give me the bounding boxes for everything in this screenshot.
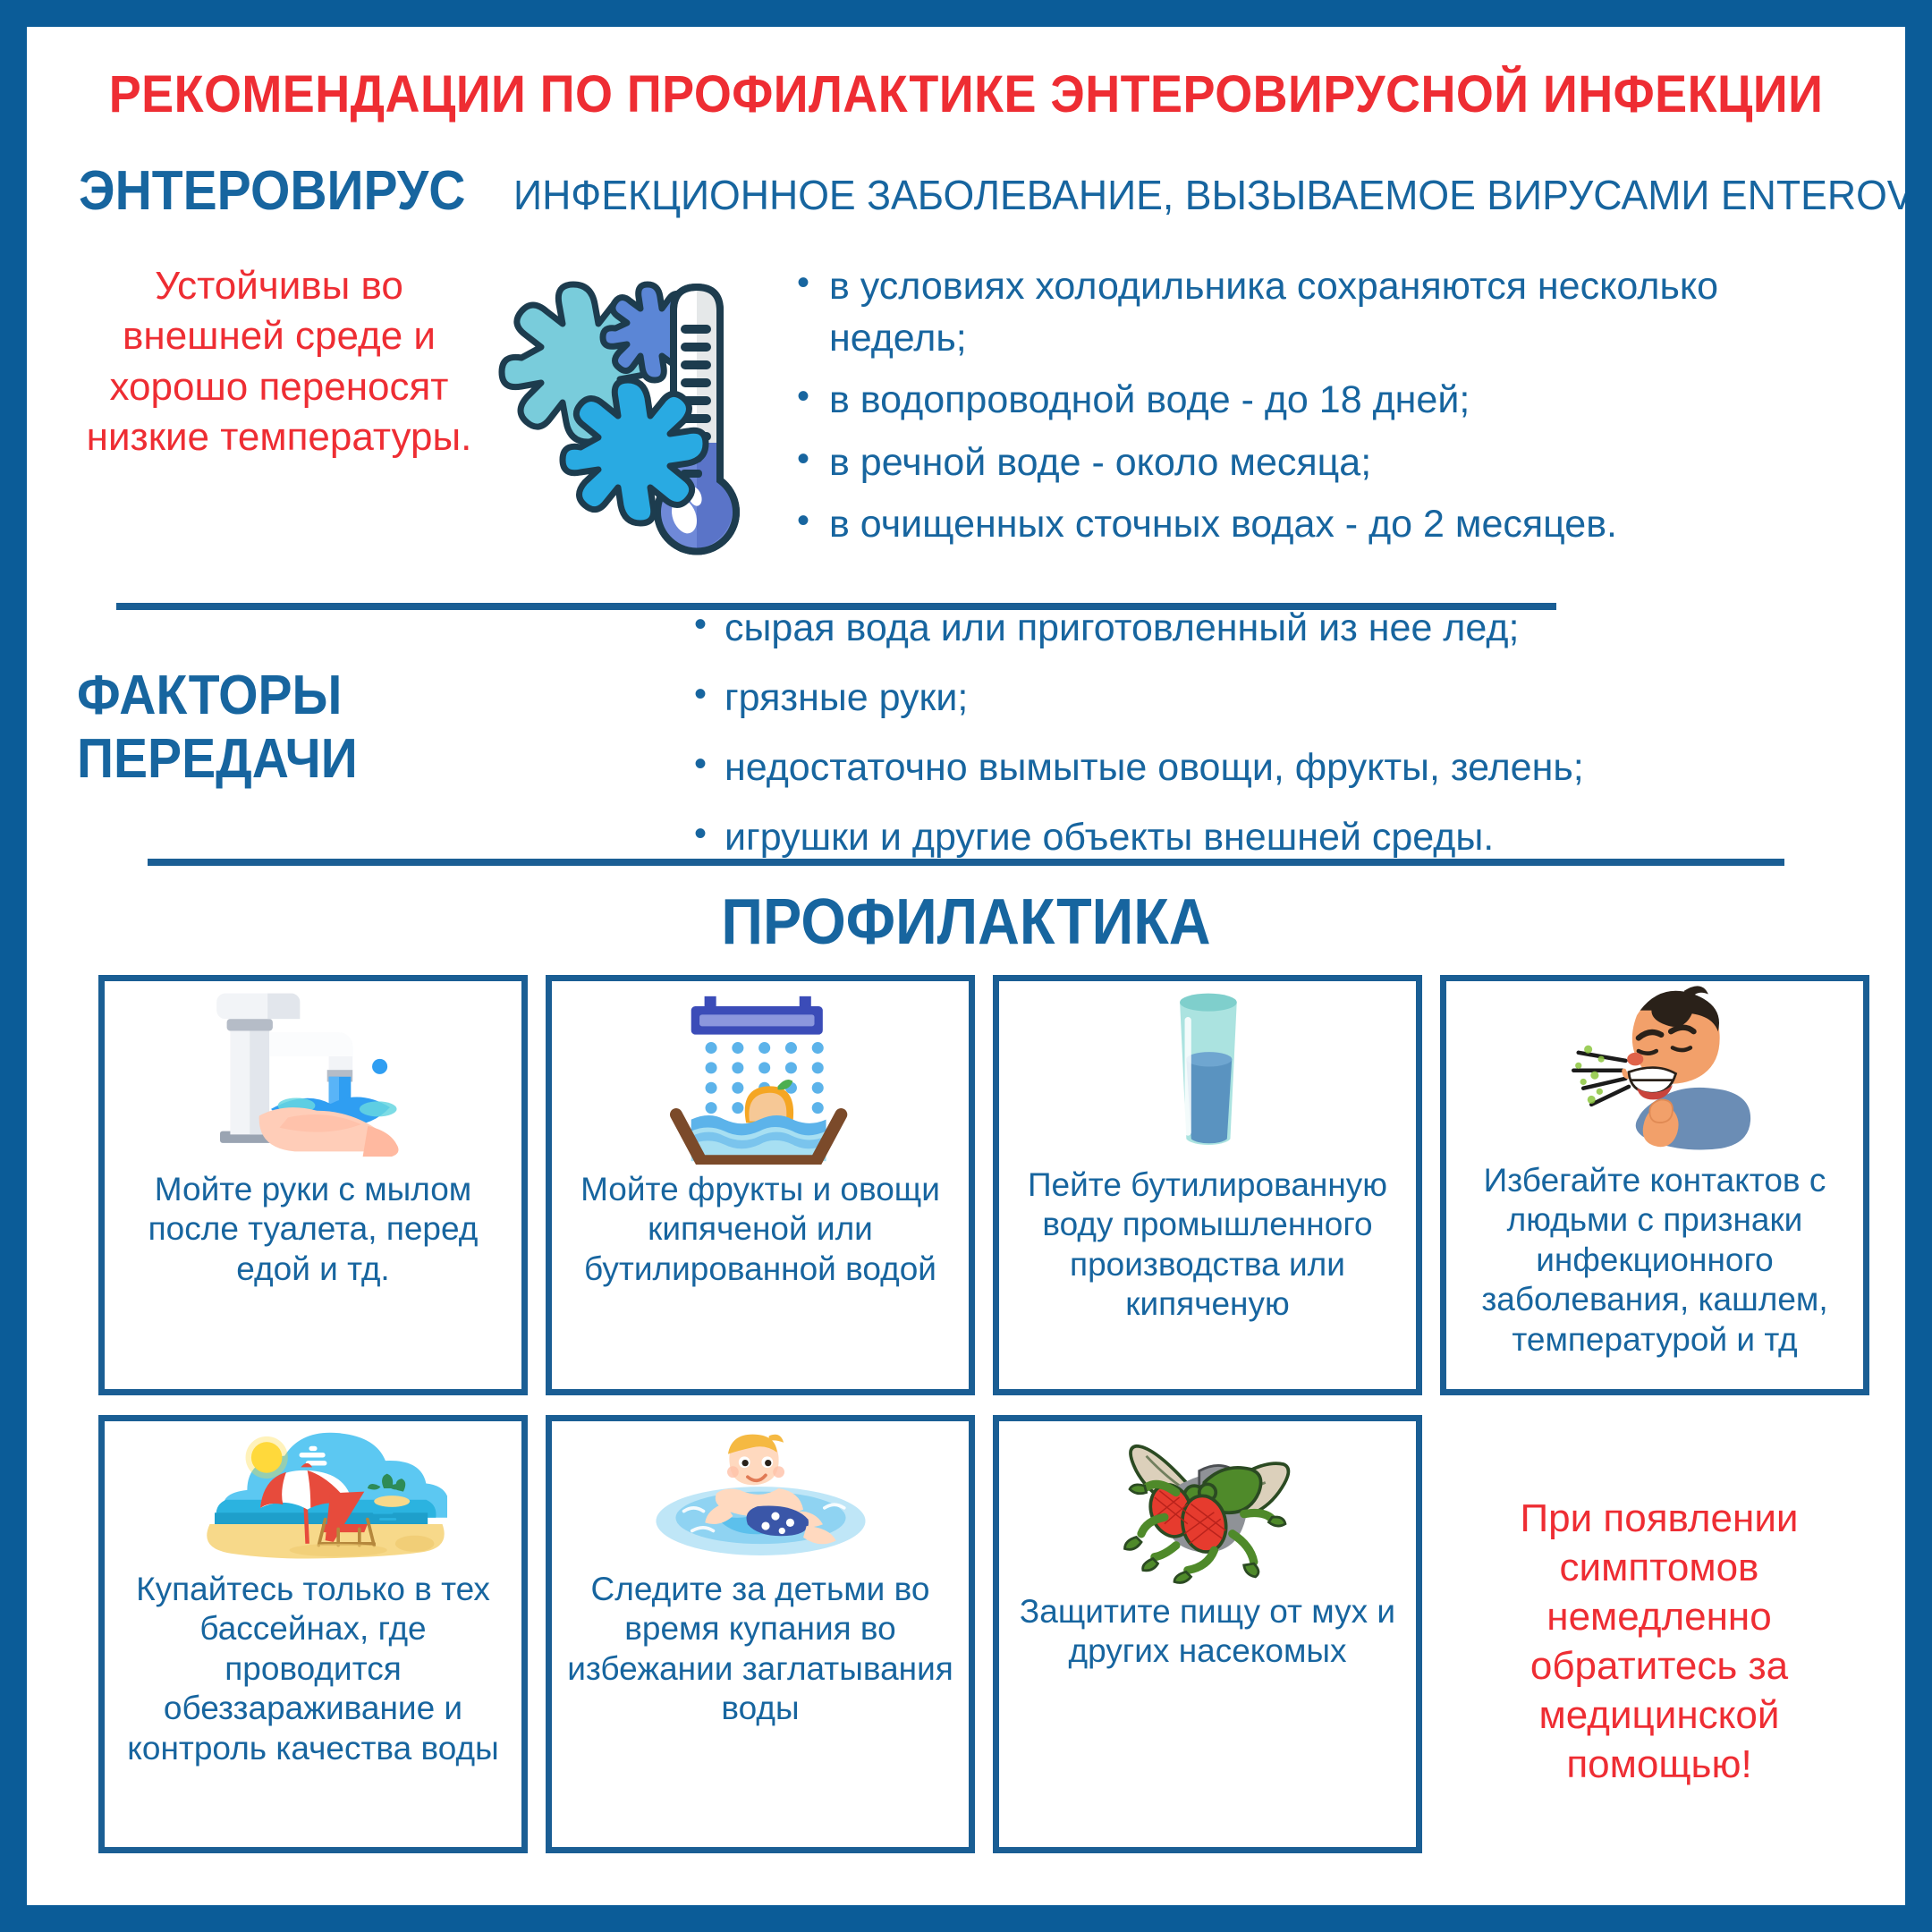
list-item: недостаточно вымытые овощи, фрукты, зеле… [689, 743, 1789, 793]
prevention-card-protect-food: Защитите пищу от мух и других насекомых [993, 1415, 1422, 1853]
handwashing-faucet-icon [105, 981, 521, 1165]
coughing-man-icon [1446, 981, 1863, 1156]
prevention-card-avoid-contact: Избегайте контактов с людьми с признаки … [1440, 975, 1869, 1395]
card-label: Пейте бутилированную воду промышленного … [999, 1160, 1416, 1325]
enterovirus-definition: ЭНТЕРОВИРУС ИНФЕКЦИОННОЕ ЗАБОЛЕВАНИЕ, ВЫ… [79, 159, 1859, 223]
survival-conditions-list: в условиях холодильника сохраняются неск… [792, 261, 1856, 562]
thermometer-snowflake-icon [470, 273, 774, 581]
washing-fruits-basin-icon [552, 981, 969, 1165]
beach-umbrella-icon [105, 1421, 521, 1564]
fly-insect-icon [999, 1421, 1416, 1587]
card-label: Мойте руки с мылом после туалета, перед … [105, 1165, 521, 1289]
list-item: грязные руки; [689, 674, 1789, 724]
card-label: Следите за детьми во время купания во из… [552, 1564, 969, 1729]
divider-2 [148, 859, 1784, 866]
prevention-card-handwashing: Мойте руки с мылом после туалета, перед … [98, 975, 528, 1395]
transmission-factors-heading: ФАКТОРЫ ПЕРЕДАЧИ [77, 664, 620, 791]
page-title: РЕКОМЕНДАЦИИ ПО ПРОФИЛАКТИКЕ ЭНТЕРОВИРУС… [93, 64, 1840, 124]
poster-canvas: РЕКОМЕНДАЦИИ ПО ПРОФИЛАКТИКЕ ЭНТЕРОВИРУС… [27, 27, 1905, 1905]
cold-resistance-text: Устойчивы во внешней среде и хорошо пере… [82, 261, 476, 462]
list-item: в условиях холодильника сохраняются неск… [792, 261, 1856, 364]
seek-medical-help-note: При появлении симптомов немедленно обрат… [1449, 1494, 1869, 1789]
definition-term: ЭНТЕРОВИРУС [79, 159, 465, 223]
card-label: Купайтесь только в тех бассейнах, где пр… [105, 1564, 521, 1768]
list-item: в очищенных сточных водах - до 2 месяцев… [792, 499, 1856, 551]
prevention-card-bottled-water: Пейте бутилированную воду промышленного … [993, 975, 1422, 1395]
definition-description: ИНФЕКЦИОННОЕ ЗАБОЛЕВАНИЕ, ВЫЗЫВАЕМОЕ ВИР… [513, 171, 1905, 219]
transmission-factors-list: сырая вода или приготовленный из нее лед… [689, 604, 1789, 883]
card-label: Мойте фрукты и овощи кипяченой или бутил… [552, 1165, 969, 1289]
prevention-card-pools: Купайтесь только в тех бассейнах, где пр… [98, 1415, 528, 1853]
prevention-heading: ПРОФИЛАКТИКА [121, 885, 1811, 959]
card-label: Избегайте контактов с людьми с признаки … [1446, 1156, 1863, 1360]
prevention-card-supervise-children: Следите за детьми во время купания во из… [546, 1415, 975, 1853]
card-label: Защитите пищу от мух и других насекомых [999, 1587, 1416, 1672]
list-item: в речной воде - около месяца; [792, 437, 1856, 489]
list-item: игрушки и другие объекты внешней среды. [689, 813, 1789, 863]
list-item: сырая вода или приготовленный из нее лед… [689, 604, 1789, 654]
glass-of-water-icon [999, 981, 1416, 1160]
prevention-card-wash-produce: Мойте фрукты и овощи кипяченой или бутил… [546, 975, 975, 1395]
list-item: в водопроводной воде - до 18 дней; [792, 375, 1856, 427]
child-swimming-icon [552, 1421, 969, 1564]
